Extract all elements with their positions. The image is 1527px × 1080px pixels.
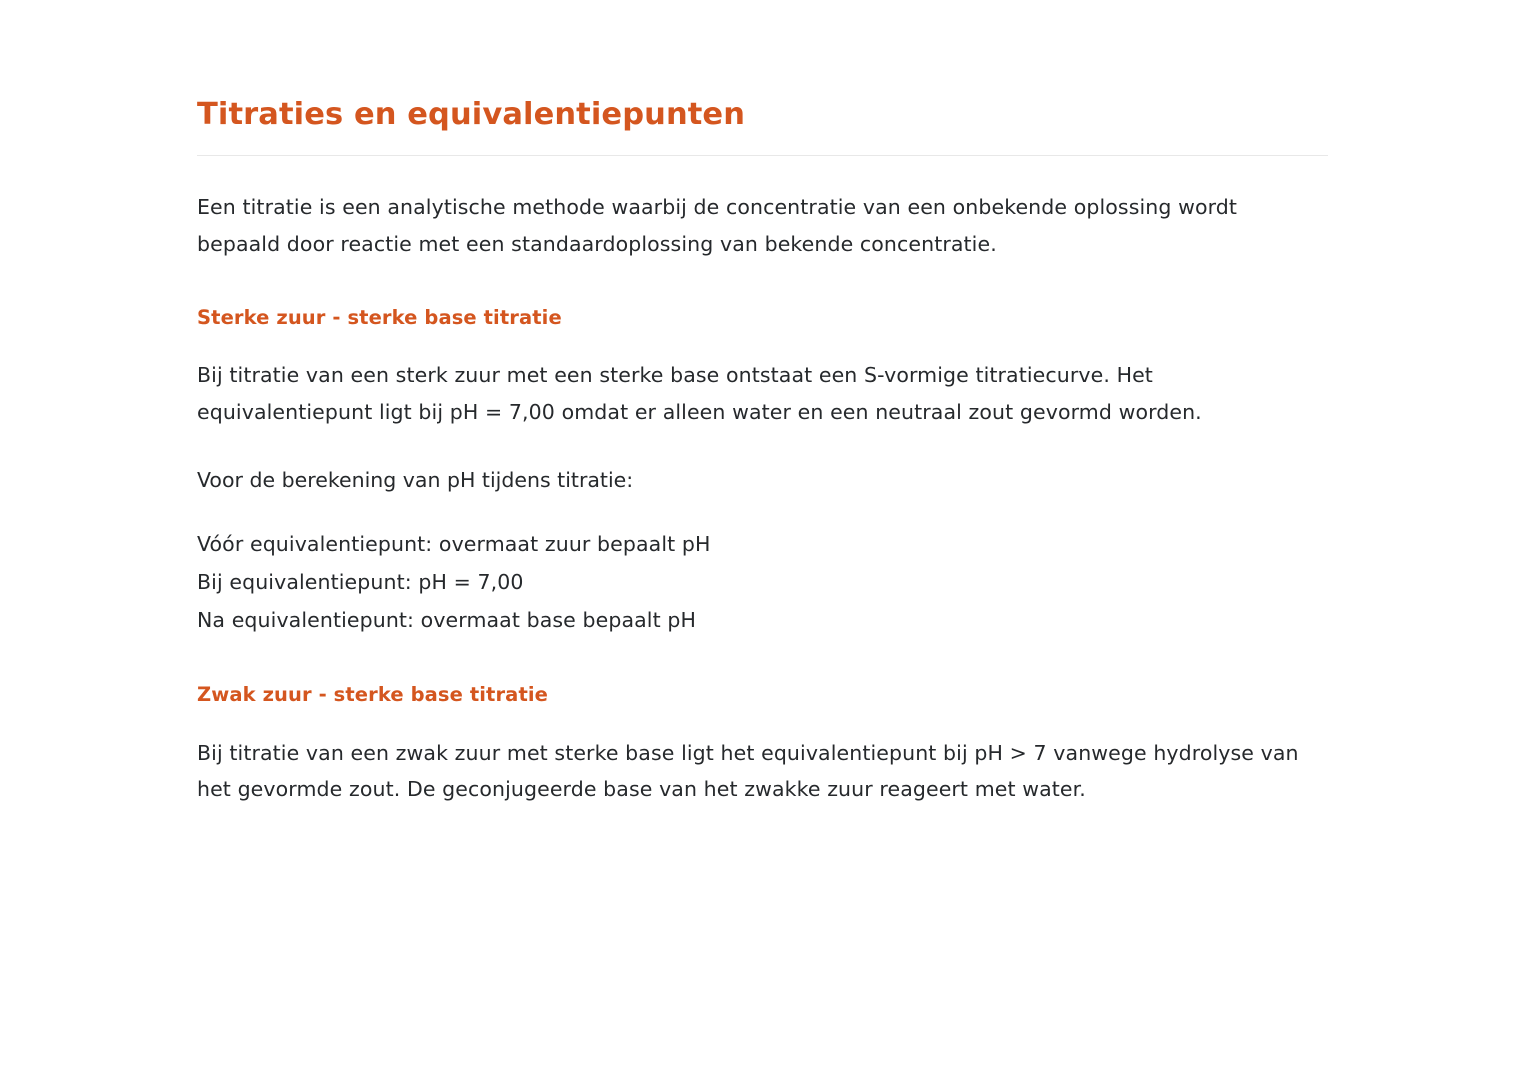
list-item: Na equivalentiepunt: overmaat base bepaa… xyxy=(197,601,1328,639)
ph-calculation-step-list: Vóór equivalentiepunt: overmaat zuur bep… xyxy=(197,525,1328,639)
document-page: Titraties en equivalentiepunten Een titr… xyxy=(0,0,1527,1080)
page-title: Titraties en equivalentiepunten xyxy=(197,96,1328,133)
intro-paragraph: Een titratie is een analytische methode … xyxy=(197,189,1315,262)
section-strong-acid-strong-base: Sterke zuur - sterke base titratie Bij t… xyxy=(197,304,1328,639)
list-item: Vóór equivalentiepunt: overmaat zuur bep… xyxy=(197,525,1328,563)
section-weak-acid-strong-base: Zwak zuur - sterke base titratie Bij tit… xyxy=(197,681,1328,807)
title-divider xyxy=(197,155,1328,156)
section-heading-strong-acid: Sterke zuur - sterke base titratie xyxy=(197,304,1328,331)
section-paragraph-strong-acid: Bij titratie van een sterk zuur met een … xyxy=(197,357,1315,430)
section-paragraph-weak-acid: Bij titratie van een zwak zuur met sterk… xyxy=(197,735,1315,808)
section-heading-weak-acid: Zwak zuur - sterke base titratie xyxy=(197,681,1328,708)
list-item: Bij equivalentiepunt: pH = 7,00 xyxy=(197,563,1328,601)
calculation-lead-in: Voor de berekening van pH tijdens titrat… xyxy=(197,462,1328,498)
